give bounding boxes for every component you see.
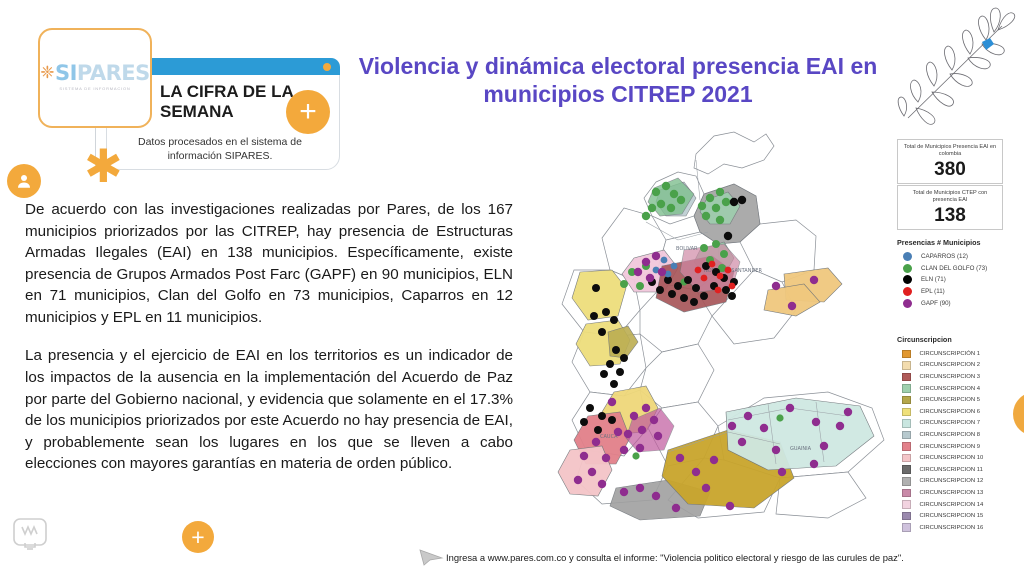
circunscripcion-label: CIRCUNSCRIPCION 6 [920, 409, 981, 415]
paragraph-1: De acuerdo con las investigaciones reali… [25, 199, 513, 328]
circunscripcion-swatch-icon [902, 373, 911, 382]
circunscripcion-row[interactable]: CIRCUNSCRIPCION 15 [897, 510, 1023, 522]
legend-presencias-title: Presencias # Municipios [897, 238, 1023, 247]
presencia-label: CLAN DEL GOLFO (73) [921, 265, 987, 272]
circunscripcion-swatch-icon [902, 396, 911, 405]
blue-leaf-accent [982, 38, 994, 50]
circunscripcion-swatch-icon [902, 442, 911, 451]
map-label-guainia: GUAINIA [790, 446, 812, 452]
logo-pares-text: PARES [77, 61, 150, 85]
presencia-row[interactable]: CAPARROS (12) [897, 251, 1023, 263]
circunscripcion-row[interactable]: CIRCUNSCRIPCION 6 [897, 406, 1023, 418]
logo-subtitle: SISTEMA DE INFORMACION [40, 86, 150, 91]
stat-card-total-municipios-ctep: Total de Municipios CTEP con presencia E… [897, 185, 1003, 230]
stat-card-total-municipios-colombia: Total de Municipios Presencia EAI en col… [897, 139, 1003, 184]
circunscripcion-row[interactable]: CIRCUNSCRIPCION 9 [897, 441, 1023, 453]
map-svg: BOLIVAR NORTE DE SANTANDER GUAINIA CAUCA [528, 120, 908, 540]
circunscripcion-label: CIRCUNSCRIPCION 12 [920, 478, 984, 484]
presencia-row[interactable]: EPL (11) [897, 286, 1023, 298]
paragraph-2: La presencia y el ejercicio de EAI en lo… [25, 345, 513, 474]
legend-circunscripcion: Circunscripcion CIRCUNSCRIPCIÓN 1CIRCUNS… [897, 335, 1023, 534]
presencia-row[interactable]: GAPF (90) [897, 297, 1023, 309]
circunscripcion-row[interactable]: CIRCUNSCRIPCION 4 [897, 383, 1023, 395]
presencia-swatch-icon [903, 252, 912, 261]
circunscripcion-row[interactable]: CIRCUNSCRIPCION 8 [897, 429, 1023, 441]
cifra-semana-subtitle: Datos procesados en el sistema de inform… [112, 136, 328, 163]
circunscripcion-label: CIRCUNSCRIPCION 8 [920, 432, 981, 438]
circunscripcion-label: CIRCUNSCRIPCION 16 [920, 525, 984, 531]
circunscripcion-label: CIRCUNSCRIPCION 9 [920, 444, 981, 450]
stat-value: 380 [902, 160, 998, 181]
circunscripcion-swatch-icon [902, 489, 911, 498]
circunscripcion-swatch-icon [902, 465, 911, 474]
circunscripcion-label: CIRCUNSCRIPCION 11 [920, 467, 983, 473]
circunscripcion-swatch-icon [902, 350, 911, 359]
circunscripcion-label: CIRCUNSCRIPCION 10 [920, 455, 984, 461]
article-body: De acuerdo con las investigaciones reali… [25, 199, 513, 475]
map-label-bolivar: BOLIVAR [676, 246, 698, 252]
lightbulb-icon [8, 513, 52, 562]
circunscripcion-label: CIRCUNSCRIPCIÓN 1 [920, 351, 981, 357]
plus-badge-bottom: + [182, 521, 214, 553]
presencia-label: ELN (71) [921, 276, 946, 283]
sipares-logotype: ❈ SI PARES [40, 61, 150, 85]
bird-icon: ❈ [40, 63, 54, 83]
logo-si-text: SI [55, 61, 77, 85]
asterisk-decoration: ✱ [84, 143, 123, 189]
circunscripcion-label: CIRCUNSCRIPCION 14 [920, 502, 984, 508]
circunscripcion-swatch-icon [902, 500, 911, 509]
presencia-label: EPL (11) [921, 288, 945, 295]
circunscripcion-label: CIRCUNSCRIPCION 15 [920, 513, 984, 519]
circunscripcion-label: CIRCUNSCRIPCION 5 [920, 397, 981, 403]
sipares-logo-card: ❈ SI PARES SISTEMA DE INFORMACION [38, 28, 152, 128]
circunscripcion-row[interactable]: CIRCUNSCRIPCIÓN 1 [897, 348, 1023, 360]
circunscripcion-row[interactable]: CIRCUNSCRIPCION 13 [897, 487, 1023, 499]
presencia-swatch-icon [903, 299, 912, 308]
presencia-swatch-icon [903, 264, 912, 273]
stat-label: Total de Municipios Presencia EAI en col… [902, 144, 998, 159]
circunscripcion-row[interactable]: CIRCUNSCRIPCION 11 [897, 464, 1023, 476]
circunscripcion-swatch-icon [902, 361, 911, 370]
presencia-row[interactable]: ELN (71) [897, 274, 1023, 286]
circunscripcion-row[interactable]: CIRCUNSCRIPCION 10 [897, 452, 1023, 464]
circunscripcion-swatch-icon [902, 512, 911, 521]
circunscripcion-row[interactable]: CIRCUNSCRIPCION 5 [897, 394, 1023, 406]
presencia-label: CAPARROS (12) [921, 253, 968, 260]
footer: Ingresa a www.pares.com.co y consulta el… [418, 548, 904, 566]
circunscripcion-swatch-icon [902, 477, 911, 486]
presencia-swatch-icon [903, 275, 912, 284]
circunscripcion-swatch-icon [902, 454, 911, 463]
circunscripcion-label: CIRCUNSCRIPCION 3 [920, 374, 981, 380]
presencia-swatch-icon [903, 287, 912, 296]
circunscripcion-row[interactable]: CIRCUNSCRIPCION 16 [897, 522, 1023, 534]
circunscripcion-swatch-icon [902, 408, 911, 417]
cursor-arrow-icon [418, 548, 444, 566]
circunscripcion-swatch-icon [902, 419, 911, 428]
circunscripcion-label: CIRCUNSCRIPCION 7 [920, 420, 981, 426]
plus-badge-top: + [286, 90, 330, 134]
circunscripcion-swatch-icon [902, 384, 911, 393]
colombia-map[interactable]: BOLIVAR NORTE DE SANTANDER GUAINIA CAUCA [528, 120, 908, 540]
legend-circunscripcion-title: Circunscripcion [897, 335, 1023, 344]
legend-presencias: Presencias # Municipios CAPARROS (12)CLA… [897, 238, 1023, 309]
stat-label: Total de Municipios CTEP con presencia E… [902, 190, 998, 205]
leaf-branch-decoration [890, 2, 1018, 128]
circunscripcion-row[interactable]: CIRCUNSCRIPCION 7 [897, 418, 1023, 430]
circunscripcion-label: CIRCUNSCRIPCION 2 [920, 362, 981, 368]
circunscripcion-label: CIRCUNSCRIPCION 13 [920, 490, 984, 496]
footer-text: Ingresa a www.pares.com.co y consulta el… [446, 552, 904, 563]
circunscripcion-row[interactable]: CIRCUNSCRIPCION 12 [897, 476, 1023, 488]
presencia-label: GAPF (90) [921, 300, 951, 307]
circunscripcion-swatch-icon [902, 431, 911, 440]
person-avatar-icon [7, 164, 41, 198]
circunscripcion-row[interactable]: CIRCUNSCRIPCION 14 [897, 499, 1023, 511]
stat-value: 138 [902, 206, 998, 227]
circunscripcion-row[interactable]: CIRCUNSCRIPCION 2 [897, 360, 1023, 372]
circunscripcion-row[interactable]: CIRCUNSCRIPCION 3 [897, 371, 1023, 383]
presencia-row[interactable]: CLAN DEL GOLFO (73) [897, 263, 1023, 275]
page-title: Violencia y dinámica electoral presencia… [328, 52, 908, 108]
circunscripcion-swatch-icon [902, 523, 911, 532]
circunscripcion-label: CIRCUNSCRIPCION 4 [920, 386, 981, 392]
